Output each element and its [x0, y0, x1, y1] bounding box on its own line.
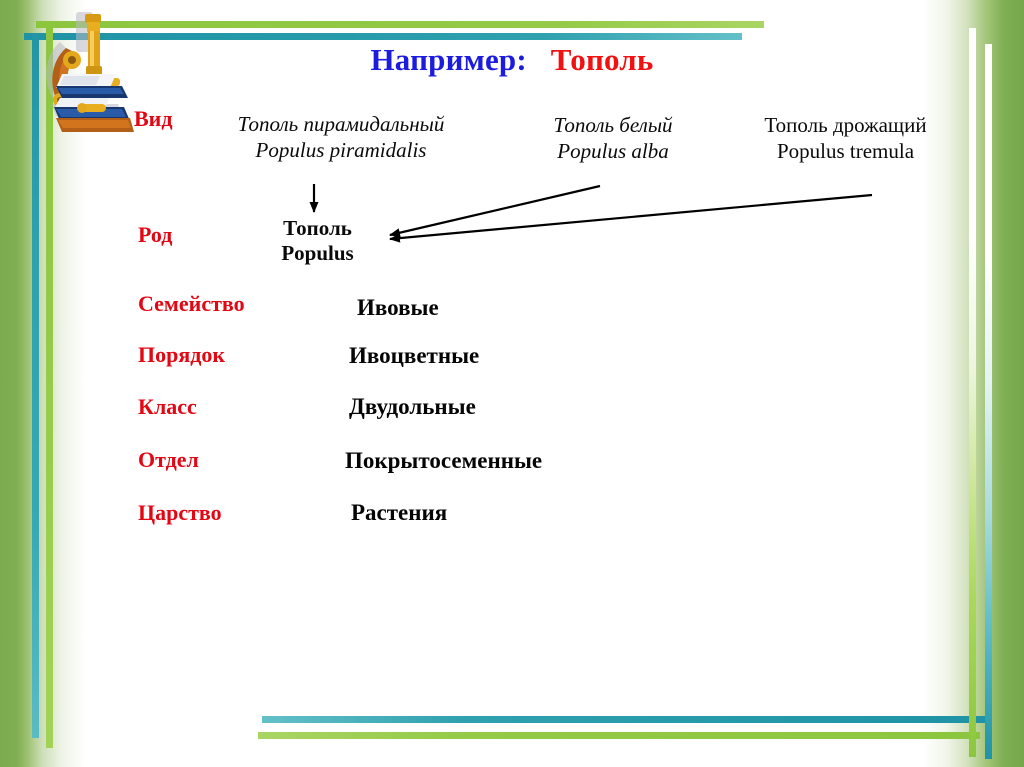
rank-label-klass: Класс — [138, 394, 197, 420]
right-green-rule — [969, 28, 976, 757]
genus-latin-name: Populus — [255, 241, 380, 266]
species-latin-name: Populus tremula — [728, 139, 963, 165]
species-russian-name: Тополь дрожащий — [728, 113, 963, 139]
arrow-left-icon-alba — [390, 186, 600, 235]
species-tremula: Тополь дрожащий Populus tremula — [728, 113, 963, 164]
rank-value-klass: Двудольные — [349, 394, 476, 420]
arrow-left-icon-tremula — [390, 195, 872, 239]
rank-label-semeystvo: Семейство — [138, 291, 245, 317]
top-green-rule — [36, 21, 764, 28]
rank-label-poryadok: Порядок — [138, 342, 225, 368]
page-title: Например: Тополь — [0, 42, 1024, 78]
rank-label-otdel: Отдел — [138, 447, 199, 473]
genus-russian-name: Тополь — [255, 216, 380, 241]
species-piramidalis: Тополь пирамидальный Populus piramidalis — [196, 112, 486, 163]
title-subject: Тополь — [551, 42, 654, 77]
genus-block: Тополь Populus — [255, 216, 380, 266]
species-russian-name: Тополь белый — [518, 113, 708, 139]
bottom-green-rule — [258, 732, 980, 739]
slide-canvas: Например: Тополь Вид Род Семейство Поряд… — [0, 0, 1024, 767]
species-alba: Тополь белый Populus alba — [518, 113, 708, 164]
rank-value-otdel: Покрытосеменные — [345, 448, 542, 474]
rank-value-tsarstvo: Растения — [351, 500, 447, 526]
bottom-teal-rule — [262, 716, 992, 723]
rank-label-vid: Вид — [134, 106, 172, 132]
rank-label-tsarstvo: Царство — [138, 500, 222, 526]
species-russian-name: Тополь пирамидальный — [196, 112, 486, 138]
title-prefix: Например: — [370, 42, 526, 77]
right-teal-rule — [985, 44, 992, 759]
species-latin-name: Populus piramidalis — [196, 138, 486, 164]
rank-label-rod: Род — [138, 222, 172, 248]
species-latin-name: Populus alba — [518, 139, 708, 165]
rank-value-poryadok: Ивоцветные — [349, 343, 479, 369]
rank-value-semeystvo: Ивовые — [357, 295, 439, 321]
